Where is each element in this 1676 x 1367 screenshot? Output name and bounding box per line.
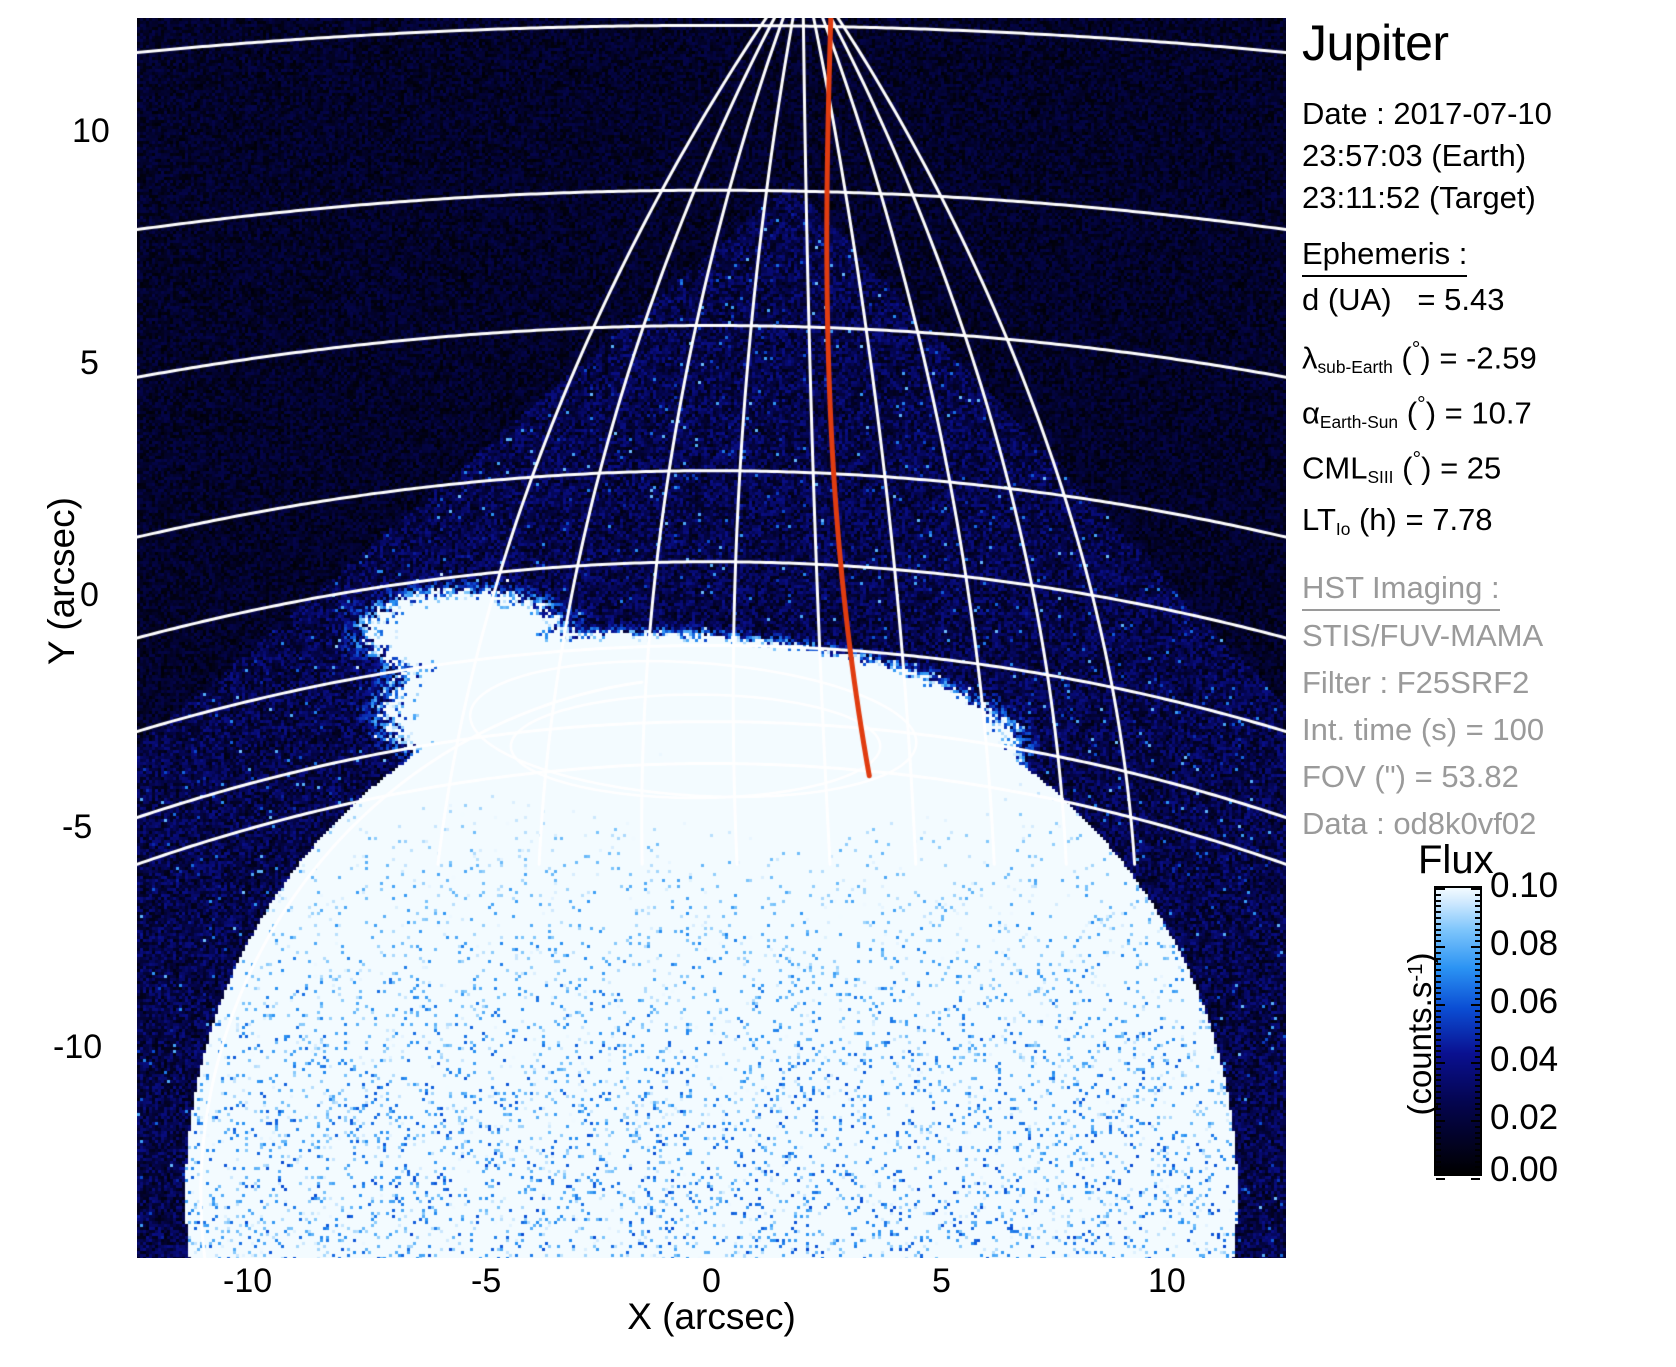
colorbar-tick bbox=[1475, 1097, 1480, 1099]
colorbar-tick bbox=[1475, 934, 1480, 936]
colorbar-tick bbox=[1475, 1010, 1480, 1012]
colorbar-tick bbox=[1475, 1132, 1480, 1134]
colorbar-tick bbox=[1475, 1126, 1480, 1128]
colorbar-tick bbox=[1471, 1178, 1480, 1180]
colorbar-tick bbox=[1475, 1079, 1480, 1081]
colorbar-tick bbox=[1475, 987, 1480, 989]
colorbar-tick bbox=[1475, 1039, 1480, 1041]
instrument-integration-time: Int. time (s) = 100 bbox=[1302, 714, 1544, 745]
colorbar-tick bbox=[1475, 1085, 1480, 1087]
colorbar-tick bbox=[1471, 946, 1480, 948]
instrument-filter: Filter : F25SRF2 bbox=[1302, 667, 1529, 698]
colorbar-tick bbox=[1475, 923, 1480, 925]
colorbar-tick bbox=[1475, 1068, 1480, 1070]
colorbar-unit-label: (counts.s-1) bbox=[1401, 884, 1439, 1184]
colorbar-tick bbox=[1475, 969, 1480, 971]
ephemeris-row-phase-angle: αEarth-Sun (°) = 10.7 bbox=[1302, 394, 1532, 428]
colorbar-tick bbox=[1471, 1004, 1480, 1006]
observation-date: Date : 2017-07-10 bbox=[1302, 98, 1552, 129]
y-axis-title: Y (arcsec) bbox=[41, 421, 83, 741]
jupiter-uv-aurora-heatmap bbox=[137, 18, 1286, 1258]
colorbar-tick bbox=[1475, 940, 1480, 942]
page-title: Jupiter bbox=[1302, 14, 1449, 72]
colorbar-tick bbox=[1475, 1103, 1480, 1105]
colorbar-tick bbox=[1475, 1045, 1480, 1047]
y-tick-label-minus10: -10 bbox=[53, 1028, 102, 1067]
colorbar-tick bbox=[1471, 1062, 1480, 1064]
observation-time-target: 23:11:52 (Target) bbox=[1302, 182, 1536, 213]
colorbar-tick-label-4: 0.02 bbox=[1490, 1098, 1558, 1138]
colorbar-tick bbox=[1475, 1027, 1480, 1029]
colorbar-tick bbox=[1475, 963, 1480, 965]
colorbar-tick bbox=[1475, 1172, 1480, 1174]
colorbar-tick bbox=[1475, 1074, 1480, 1076]
colorbar-tick-label-3: 0.04 bbox=[1490, 1040, 1558, 1080]
y-tick-label-10: 10 bbox=[72, 112, 110, 151]
colorbar-tick bbox=[1475, 952, 1480, 954]
metadata-panel: Jupiter Date : 2017-07-10 23:57:03 (Eart… bbox=[1297, 0, 1676, 1367]
instrument-fov: FOV (") = 53.82 bbox=[1302, 761, 1519, 792]
observation-time-earth: 23:57:03 (Earth) bbox=[1302, 140, 1526, 171]
colorbar-tick-label-2: 0.06 bbox=[1490, 982, 1558, 1022]
colorbar-tick bbox=[1475, 1161, 1480, 1163]
ephemeris-row-cml: CMLSIII (°) = 25 bbox=[1302, 449, 1501, 483]
colorbar-tick-label-0: 0.10 bbox=[1490, 866, 1558, 906]
colorbar-tick-label-5: 0.00 bbox=[1490, 1150, 1558, 1190]
colorbar-tick bbox=[1475, 1091, 1480, 1093]
flux-colorbar bbox=[1434, 886, 1482, 1176]
colorbar-tick bbox=[1475, 1021, 1480, 1023]
colorbar-tick bbox=[1471, 888, 1480, 890]
colorbar-tick bbox=[1475, 1155, 1480, 1157]
colorbar-title: Flux bbox=[1418, 838, 1494, 883]
colorbar-tick bbox=[1475, 1050, 1480, 1052]
colorbar-tick bbox=[1475, 894, 1480, 896]
y-tick-label-5: 5 bbox=[80, 344, 99, 383]
colorbar-tick bbox=[1475, 998, 1480, 1000]
colorbar-tick bbox=[1475, 900, 1480, 902]
colorbar-tick bbox=[1475, 917, 1480, 919]
ephemeris-row-sub-earth-latitude: λsub-Earth (°) = -2.59 bbox=[1302, 339, 1537, 373]
colorbar-tick bbox=[1475, 975, 1480, 977]
aurora-image-plot bbox=[137, 18, 1286, 1258]
y-tick-label-minus5: -5 bbox=[62, 808, 92, 847]
colorbar-tick bbox=[1475, 1016, 1480, 1018]
x-axis-title: X (arcsec) bbox=[137, 1296, 1286, 1338]
colorbar-tick bbox=[1475, 1143, 1480, 1145]
colorbar-tick bbox=[1475, 1166, 1480, 1168]
colorbar-tick bbox=[1471, 1120, 1480, 1122]
colorbar-tick bbox=[1475, 958, 1480, 960]
instrument-heading: HST Imaging : bbox=[1302, 570, 1500, 611]
colorbar-tick-label-1: 0.08 bbox=[1490, 924, 1558, 964]
colorbar-tick bbox=[1475, 1137, 1480, 1139]
colorbar-tick bbox=[1475, 1033, 1480, 1035]
colorbar-tick bbox=[1475, 1056, 1480, 1058]
ephemeris-row-distance: d (UA) = 5.43 bbox=[1302, 284, 1504, 315]
colorbar-tick bbox=[1475, 929, 1480, 931]
colorbar-tick bbox=[1475, 981, 1480, 983]
instrument-detector: STIS/FUV-MAMA bbox=[1302, 620, 1543, 651]
ephemeris-heading: Ephemeris : bbox=[1302, 236, 1467, 277]
colorbar-tick bbox=[1475, 905, 1480, 907]
instrument-dataset-id: Data : od8k0vf02 bbox=[1302, 808, 1536, 839]
colorbar-tick bbox=[1475, 1108, 1480, 1110]
colorbar-tick bbox=[1475, 992, 1480, 994]
colorbar-tick bbox=[1475, 1149, 1480, 1151]
colorbar-tick bbox=[1475, 1114, 1480, 1116]
ephemeris-row-io-local-time: LTIo (h) = 7.78 bbox=[1302, 504, 1493, 535]
colorbar-tick bbox=[1475, 911, 1480, 913]
